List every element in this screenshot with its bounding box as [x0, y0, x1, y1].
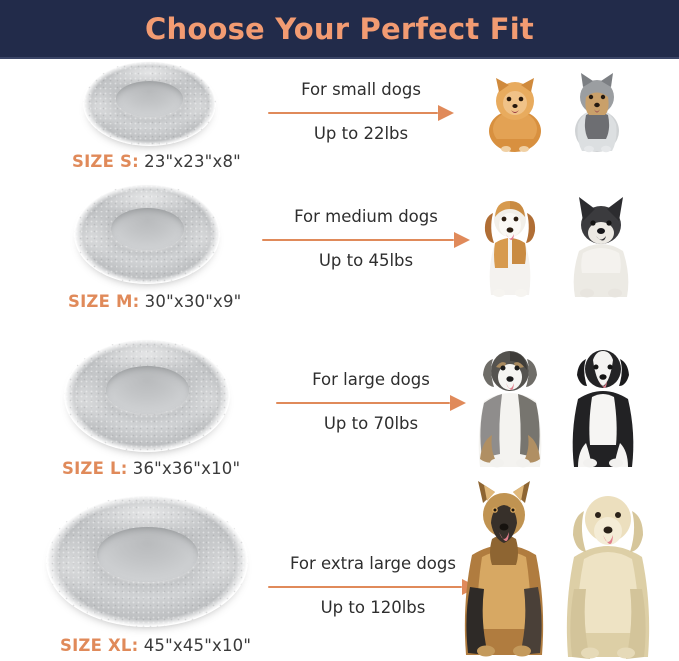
- dog-photo-group-large: [466, 337, 646, 469]
- size-key-label: SIZE S:: [72, 152, 139, 171]
- bed-inner-basin: [106, 366, 189, 413]
- golden-retriever-dog: [560, 479, 656, 659]
- arrow-head: [438, 105, 454, 121]
- size-dimensions-label: 30"x30"x9": [145, 292, 242, 311]
- dog-bed-icon: [64, 339, 230, 452]
- arrow-head: [450, 395, 466, 411]
- size-caption-medium: SIZE M: 30"x30"x9": [68, 292, 241, 311]
- bed-inner-basin: [116, 81, 183, 117]
- french-bulldog-dog: [561, 195, 641, 299]
- size-comparison-list: SIZE S: 23"x23"x8" For small dogs Up to …: [0, 59, 679, 661]
- dog-photo-group-small: [470, 67, 640, 153]
- beagle-dog: [471, 191, 549, 299]
- size-row-extra-large: SIZE XL: 45"x45"x10" For extra large dog…: [0, 479, 679, 661]
- size-caption-extra-large: SIZE XL: 45"x45"x10": [60, 636, 251, 655]
- yorkshire-terrier-dog: [564, 69, 630, 153]
- pomeranian-dog: [480, 69, 550, 153]
- fit-line-label: For medium dogs: [262, 208, 470, 227]
- size-row-large: SIZE L: 36"x36"x10" For large dogs Up to…: [0, 339, 679, 494]
- size-key-label: SIZE M:: [68, 292, 139, 311]
- arrow-right-icon: [276, 394, 466, 412]
- dog-photo-group-medium: [468, 189, 644, 299]
- fit-line-label: For large dogs: [276, 371, 466, 390]
- dog-photo-group-extra-large: [456, 475, 656, 659]
- weight-line-label: Up to 22lbs: [268, 125, 454, 144]
- bed-inner-basin: [111, 208, 184, 250]
- bed-body: [83, 61, 216, 146]
- size-row-medium: SIZE M: 30"x30"x9" For medium dogs Up to…: [0, 179, 679, 339]
- fit-callout-large: For large dogs Up to 70lbs: [276, 371, 466, 434]
- fit-callout-extra-large: For extra large dogs Up to 120lbs: [268, 555, 478, 618]
- size-row-small: SIZE S: 23"x23"x8" For small dogs Up to …: [0, 59, 679, 179]
- arrow-shaft: [276, 402, 450, 405]
- size-dimensions-label: 23"x23"x8": [144, 152, 241, 171]
- bed-body: [64, 339, 230, 452]
- arrow-right-icon: [268, 104, 454, 122]
- header-banner: Choose Your Perfect Fit: [0, 0, 679, 57]
- size-key-label: SIZE L:: [62, 459, 128, 478]
- arrow-right-icon: [262, 231, 470, 249]
- page-title: Choose Your Perfect Fit: [145, 12, 534, 46]
- size-dimensions-label: 45"x45"x10": [144, 636, 251, 655]
- german-shepherd-dog: [456, 479, 552, 659]
- bed-body: [74, 184, 220, 284]
- size-caption-small: SIZE S: 23"x23"x8": [72, 152, 241, 171]
- arrow-shaft: [268, 586, 462, 589]
- fit-callout-small: For small dogs Up to 22lbs: [268, 81, 454, 144]
- dog-bed-icon: [46, 495, 248, 627]
- size-caption-large: SIZE L: 36"x36"x10": [62, 459, 240, 478]
- bed-body: [46, 495, 248, 627]
- weight-line-label: Up to 120lbs: [268, 599, 478, 618]
- size-dimensions-label: 36"x36"x10": [133, 459, 240, 478]
- size-key-label: SIZE XL:: [60, 636, 138, 655]
- arrow-shaft: [262, 239, 454, 242]
- arrow-right-icon: [268, 578, 478, 596]
- dog-bed-icon: [83, 61, 216, 146]
- dog-bed-icon: [74, 184, 220, 284]
- bed-inner-basin: [97, 527, 198, 582]
- australian-shepherd-dog: [468, 339, 552, 469]
- fit-line-label: For extra large dogs: [268, 555, 478, 574]
- fit-callout-medium: For medium dogs Up to 45lbs: [262, 208, 470, 271]
- weight-line-label: Up to 45lbs: [262, 252, 470, 271]
- fit-line-label: For small dogs: [268, 81, 454, 100]
- weight-line-label: Up to 70lbs: [276, 415, 466, 434]
- arrow-shaft: [268, 112, 438, 115]
- border-collie-dog: [562, 339, 644, 469]
